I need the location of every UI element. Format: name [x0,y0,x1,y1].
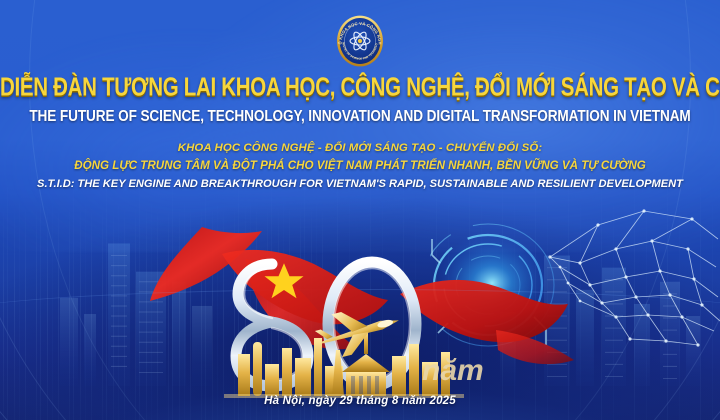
page-title-english-text: THE FUTURE OF SCIENCE, TECHNOLOGY, INNOV… [29,106,690,124]
anniversary-emblem: năm [210,238,510,398]
theme-block: KHOA HỌC CÔNG NGHỆ - ĐỔI MỚI SÁNG TẠO - … [0,142,720,190]
page-title-vietnamese: DIỄN ĐÀN TƯƠNG LAI KHOA HỌC, CÔNG NGHỆ, … [0,78,720,99]
title-block: DIỄN ĐÀN TƯƠNG LAI KHOA HỌC, CÔNG NGHỆ, … [0,78,720,190]
page-title-english: THE FUTURE OF SCIENCE, TECHNOLOGY, INNOV… [0,108,720,123]
theme-line-2: ĐỘNG LỰC TRUNG TÂM VÀ ĐỘT PHÁ CHO VIỆT N… [0,159,720,172]
forum-poster: BỘ KHOA HỌC VÀ CÔNG NGHỆ MINISTRY OF SCI… [0,0,720,420]
event-location-date: Hà Nội, ngày 29 tháng 8 năm 2025 [0,395,720,407]
emblem-word-nam: năm [422,354,484,387]
page-title-vietnamese-text: DIỄN ĐÀN TƯƠNG LAI KHOA HỌC, CÔNG NGHỆ, … [0,75,720,101]
theme-line-1: KHOA HỌC CÔNG NGHỆ - ĐỔI MỚI SÁNG TẠO - … [0,142,720,154]
theme-line-english: S.T.I.D: THE KEY ENGINE AND BREAKTHROUGH… [0,178,720,190]
ministry-logo: BỘ KHOA HỌC VÀ CÔNG NGHỆ MINISTRY OF SCI… [329,10,391,72]
